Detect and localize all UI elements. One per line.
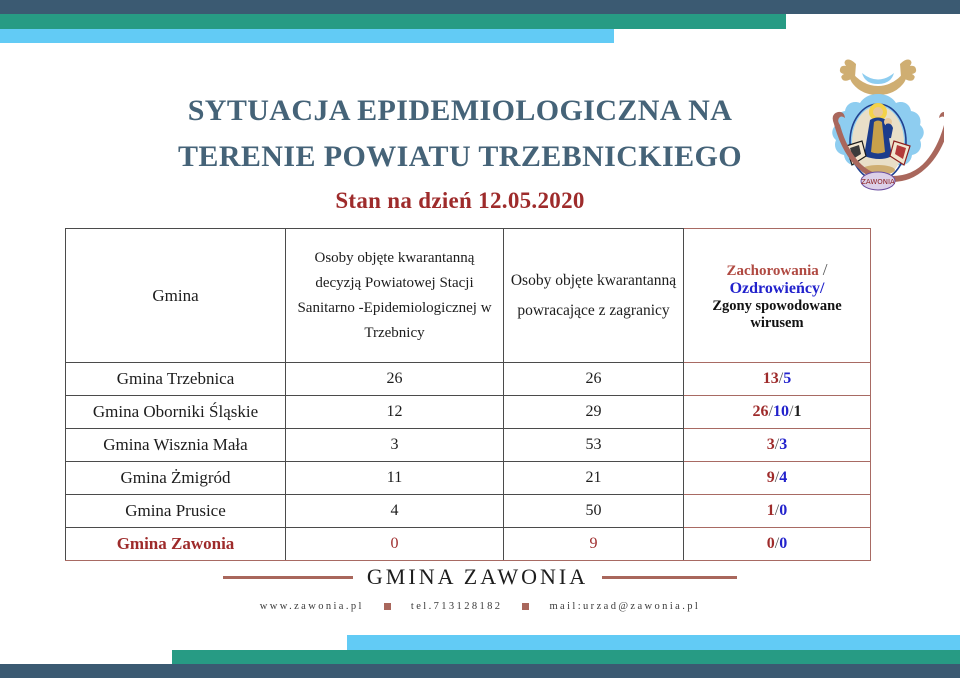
svg-text:ZAWONIA: ZAWONIA [861, 178, 895, 186]
table-body: Gmina Trzebnica262613/5Gmina Oborniki Śl… [66, 363, 871, 561]
table-row: Gmina Wisznia Mała3533/3 [66, 429, 871, 462]
cell-cases-recovered-deaths: 26/10/1 [684, 396, 871, 429]
top-bar-navy [0, 0, 960, 14]
footer: GMINA ZAWONIA www.zawonia.pl tel.7131281… [0, 564, 960, 612]
header-line: Sanitarno -Epidemiologicznej w [292, 296, 497, 321]
value-recovered: 10 [773, 403, 789, 420]
page-subtitle-date: Stan na dzień 12.05.2020 [120, 188, 800, 214]
header-line: decyzją Powiatowej Stacji [292, 271, 497, 296]
bottom-bar-light-blue [347, 635, 960, 650]
top-bar-light-blue [0, 29, 614, 43]
table-header-row: Gmina Osoby objęte kwarantanną decyzją P… [66, 229, 871, 363]
cell-quarantine-abroad: 26 [504, 363, 684, 396]
table-row: Gmina Oborniki Śląskie122926/10/1 [66, 396, 871, 429]
cell-gmina-name: Gmina Prusice [66, 495, 286, 528]
footer-contact-row: www.zawonia.pl tel.713128182 mail:urzad@… [0, 601, 960, 612]
square-bullet-icon [522, 603, 529, 610]
value-cases: 26 [753, 403, 769, 420]
column-header-quarantine-sanepid: Osoby objęte kwarantanną decyzją Powiato… [286, 229, 504, 363]
value-recovered: 3 [779, 436, 787, 453]
cell-cases-recovered-deaths: 1/0 [684, 495, 871, 528]
footer-rule-left [223, 576, 353, 579]
cell-quarantine-abroad: 53 [504, 429, 684, 462]
epidemiological-table: Gmina Osoby objęte kwarantanną decyzją P… [65, 228, 870, 561]
bottom-bar-navy [0, 664, 960, 678]
cell-quarantine-sanepid: 4 [286, 495, 504, 528]
top-bar-teal [0, 14, 786, 29]
cell-quarantine-abroad: 50 [504, 495, 684, 528]
cell-quarantine-sanepid: 26 [286, 363, 504, 396]
cell-cases-recovered-deaths: 0/0 [684, 528, 871, 561]
value-recovered: 5 [783, 370, 791, 387]
cell-cases-recovered-deaths: 9/4 [684, 462, 871, 495]
footer-website[interactable]: www.zawonia.pl [260, 601, 364, 612]
cell-quarantine-sanepid: 11 [286, 462, 504, 495]
footer-brand-row: GMINA ZAWONIA [0, 564, 960, 590]
value-recovered: 4 [779, 469, 787, 486]
value-deaths: 1 [793, 403, 801, 420]
footer-email[interactable]: mail:urzad@zawonia.pl [549, 601, 700, 612]
column-header-quarantine-abroad: Osoby objęte kwarantanną powracające z z… [504, 229, 684, 363]
cell-gmina-name: Gmina Oborniki Śląskie [66, 396, 286, 429]
header-line: Osoby objęte kwarantanną [292, 246, 497, 271]
coat-of-arms-icon: ZAWONIA [812, 42, 944, 200]
cell-cases-recovered-deaths: 3/3 [684, 429, 871, 462]
table-row: Gmina Prusice4501/0 [66, 495, 871, 528]
page-title-line-1: SYTUACJA EPIDEMIOLOGICZNA NA [120, 88, 800, 134]
footer-brand-name: GMINA ZAWONIA [367, 564, 588, 590]
header-line: powracające z zagranicy [510, 296, 677, 326]
cell-gmina-name: Gmina Trzebnica [66, 363, 286, 396]
footer-rule-right [602, 576, 737, 579]
cell-quarantine-sanepid: 0 [286, 528, 504, 561]
cell-quarantine-sanepid: 12 [286, 396, 504, 429]
footer-phone: tel.713128182 [411, 601, 503, 612]
page-title: SYTUACJA EPIDEMIOLOGICZNA NA TERENIE POW… [120, 88, 800, 214]
value-recovered: 0 [779, 502, 787, 519]
header-line: Osoby objęte kwarantanną [510, 266, 677, 296]
cell-quarantine-abroad: 9 [504, 528, 684, 561]
cell-quarantine-sanepid: 3 [286, 429, 504, 462]
value-cases: 1 [767, 502, 775, 519]
table-row: Gmina Trzebnica262613/5 [66, 363, 871, 396]
header-line: Trzebnicy [292, 321, 497, 346]
value-cases: 0 [767, 535, 775, 552]
page-title-line-2: TERENIE POWIATU TRZEBNICKIEGO [120, 134, 800, 180]
table-row: Gmina Żmigród11219/4 [66, 462, 871, 495]
value-cases: 13 [763, 370, 779, 387]
stats-table: Gmina Osoby objęte kwarantanną decyzją P… [65, 228, 871, 561]
column-header-gmina: Gmina [66, 229, 286, 363]
value-cases: 9 [767, 469, 775, 486]
header-deaths-label: Zgony spowodowane wirusem [690, 298, 864, 332]
cell-quarantine-abroad: 21 [504, 462, 684, 495]
cell-cases-recovered-deaths: 13/5 [684, 363, 871, 396]
table-row: Gmina Zawonia090/0 [66, 528, 871, 561]
cell-quarantine-abroad: 29 [504, 396, 684, 429]
header-slash: / [823, 260, 828, 279]
column-header-cases-recovered-deaths: Zachorowania / Ozdrowieńcy/ Zgony spowod… [684, 229, 871, 363]
header-cases-label: Zachorowania [727, 263, 819, 279]
cell-gmina-name: Gmina Żmigród [66, 462, 286, 495]
value-recovered: 0 [779, 535, 787, 552]
header-recovered-label: Ozdrowieńcy/ [690, 280, 864, 298]
bottom-bar-teal [172, 650, 960, 664]
value-cases: 3 [767, 436, 775, 453]
cell-gmina-name: Gmina Zawonia [66, 528, 286, 561]
square-bullet-icon [384, 603, 391, 610]
cell-gmina-name: Gmina Wisznia Mała [66, 429, 286, 462]
